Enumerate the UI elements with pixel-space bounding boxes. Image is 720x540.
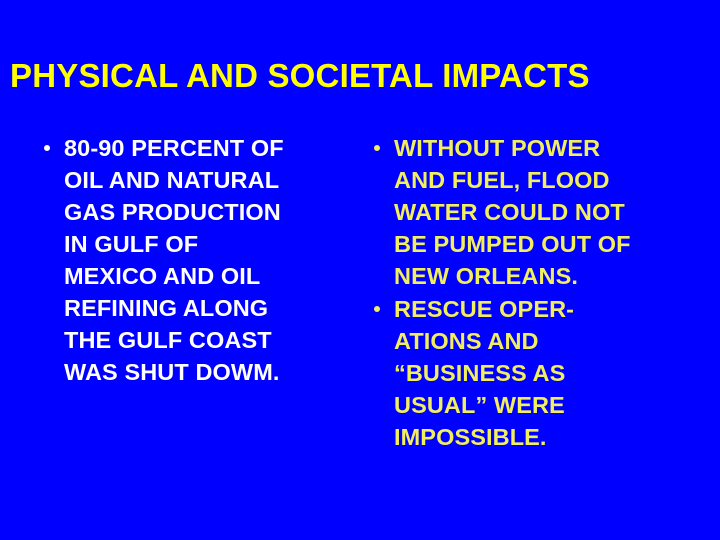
page-title: PHYSICAL AND SOCIETAL IMPACTS xyxy=(10,56,714,98)
list-item: WITHOUT POWER AND FUEL, FLOOD WATER COUL… xyxy=(366,132,696,292)
list-item-text: RESCUE OPER- ATIONS AND “BUSINESS AS USU… xyxy=(394,293,696,453)
list-item-text: 80-90 PERCENT OF OIL AND NATURAL GAS PRO… xyxy=(64,132,348,388)
bullet-dot-icon xyxy=(374,145,380,151)
content-column-right: WITHOUT POWER AND FUEL, FLOOD WATER COUL… xyxy=(366,132,696,453)
presentation-slide: PHYSICAL AND SOCIETAL IMPACTS 80-90 PERC… xyxy=(0,0,720,540)
list-item: 80-90 PERCENT OF OIL AND NATURAL GAS PRO… xyxy=(36,132,348,388)
bullet-dot-icon xyxy=(44,145,50,151)
list-item-text: WITHOUT POWER AND FUEL, FLOOD WATER COUL… xyxy=(394,132,696,292)
list-item: RESCUE OPER- ATIONS AND “BUSINESS AS USU… xyxy=(366,293,696,453)
bullet-dot-icon xyxy=(374,306,380,312)
content-column-left: 80-90 PERCENT OF OIL AND NATURAL GAS PRO… xyxy=(36,132,348,388)
